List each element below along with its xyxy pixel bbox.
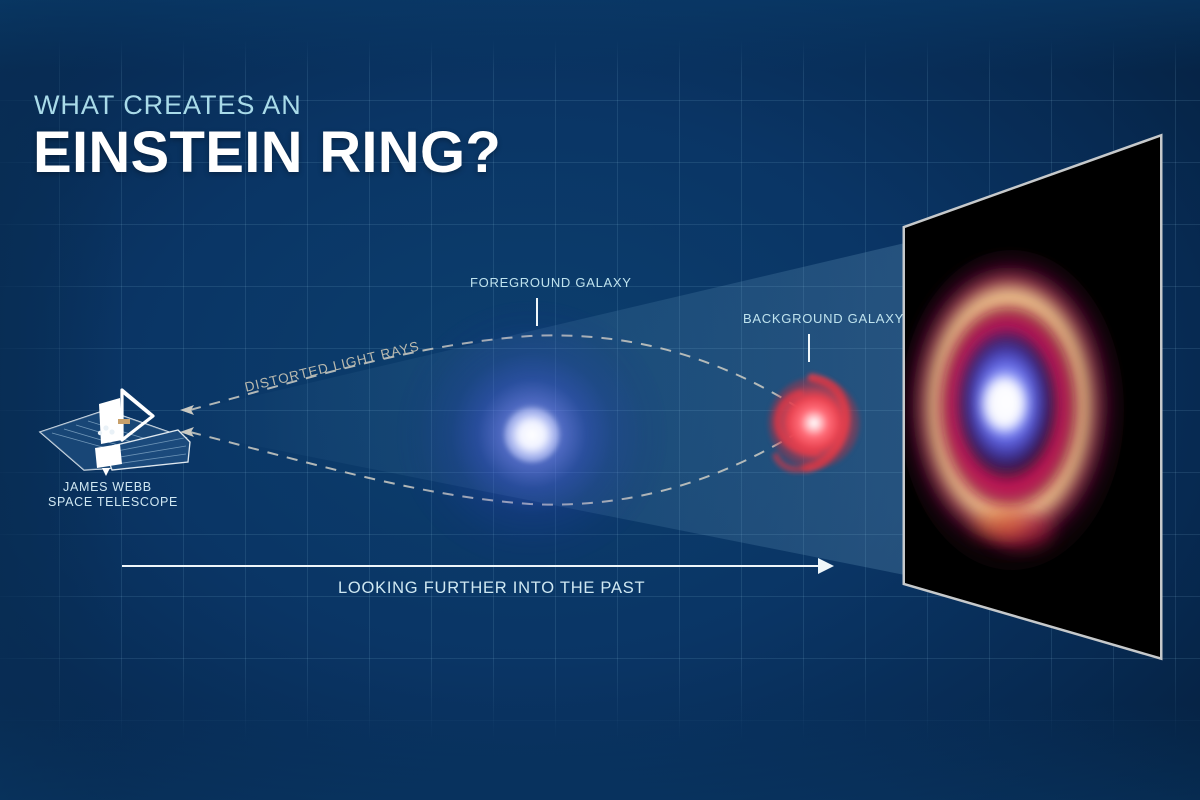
label-timeline: LOOKING FURTHER INTO THE PAST [338, 579, 645, 598]
kicker-text: WHAT CREATES AN [34, 90, 302, 121]
leader-foreground-galaxy [536, 298, 538, 326]
einstein-ring-image-panel[interactable] [900, 130, 1170, 670]
james-webb-space-telescope-icon [40, 390, 190, 476]
label-telescope-line1: JAMES WEBB [63, 480, 152, 494]
timeline-arrow [122, 558, 834, 574]
background-galaxy [768, 377, 860, 469]
page-title: EINSTEIN RING? [33, 124, 501, 182]
label-background-galaxy: BACKGROUND GALAXY [743, 311, 904, 326]
infographic-canvas: WHAT CREATES AN EINSTEIN RING? FOREGROUN… [0, 0, 1200, 800]
label-telescope-line2: SPACE TELESCOPE [48, 495, 178, 509]
leader-background-galaxy [808, 334, 810, 362]
foreground-galaxy-core [505, 408, 559, 462]
label-foreground-galaxy: FOREGROUND GALAXY [470, 275, 632, 290]
